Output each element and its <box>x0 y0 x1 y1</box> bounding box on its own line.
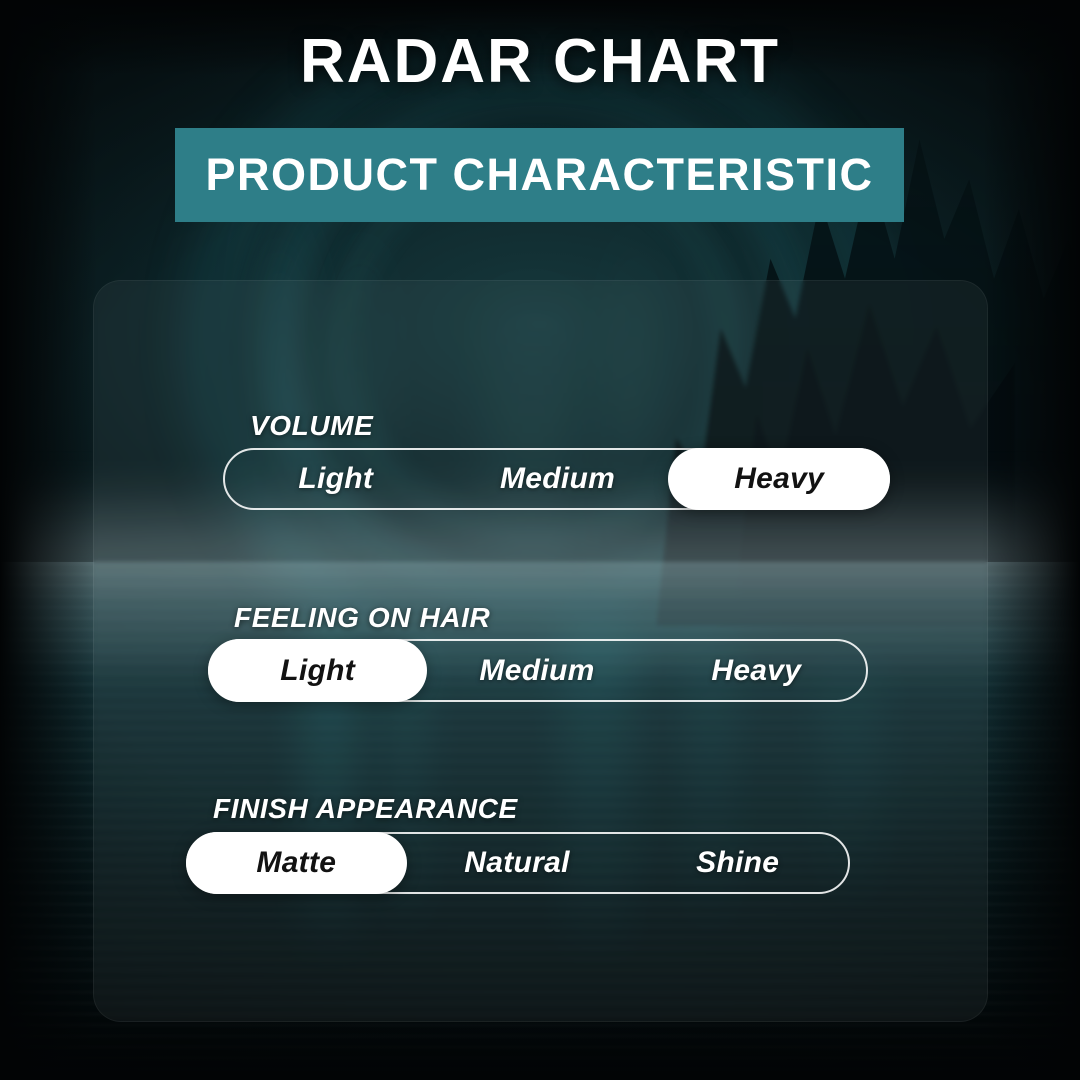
infographic-canvas: RADAR CHART PRODUCT CHARACTERISTIC VOLUM… <box>0 0 1080 1080</box>
option-finish-shine[interactable]: Shine <box>627 834 848 892</box>
row-label-volume: VOLUME <box>250 410 373 442</box>
subtitle-banner-label: PRODUCT CHARACTERISTIC <box>206 149 874 201</box>
row-label-finish-appearance: FINISH APPEARANCE <box>213 793 518 825</box>
subtitle-banner: PRODUCT CHARACTERISTIC <box>175 128 904 222</box>
segmented-control-volume[interactable]: Light Medium Heavy <box>223 448 890 510</box>
page-title: RADAR CHART <box>0 26 1080 97</box>
option-volume-medium[interactable]: Medium <box>447 450 669 508</box>
option-finish-natural[interactable]: Natural <box>407 834 628 892</box>
row-label-feeling-on-hair: FEELING ON HAIR <box>234 602 490 634</box>
option-volume-heavy[interactable]: Heavy <box>668 448 890 510</box>
segmented-control-finish-appearance[interactable]: Matte Natural Shine <box>186 832 850 894</box>
option-volume-light[interactable]: Light <box>225 450 447 508</box>
option-feeling-light[interactable]: Light <box>208 639 427 702</box>
segmented-control-feeling-on-hair[interactable]: Light Medium Heavy <box>208 639 868 702</box>
option-finish-matte[interactable]: Matte <box>186 832 407 894</box>
option-feeling-medium[interactable]: Medium <box>427 641 646 700</box>
option-feeling-heavy[interactable]: Heavy <box>647 641 866 700</box>
